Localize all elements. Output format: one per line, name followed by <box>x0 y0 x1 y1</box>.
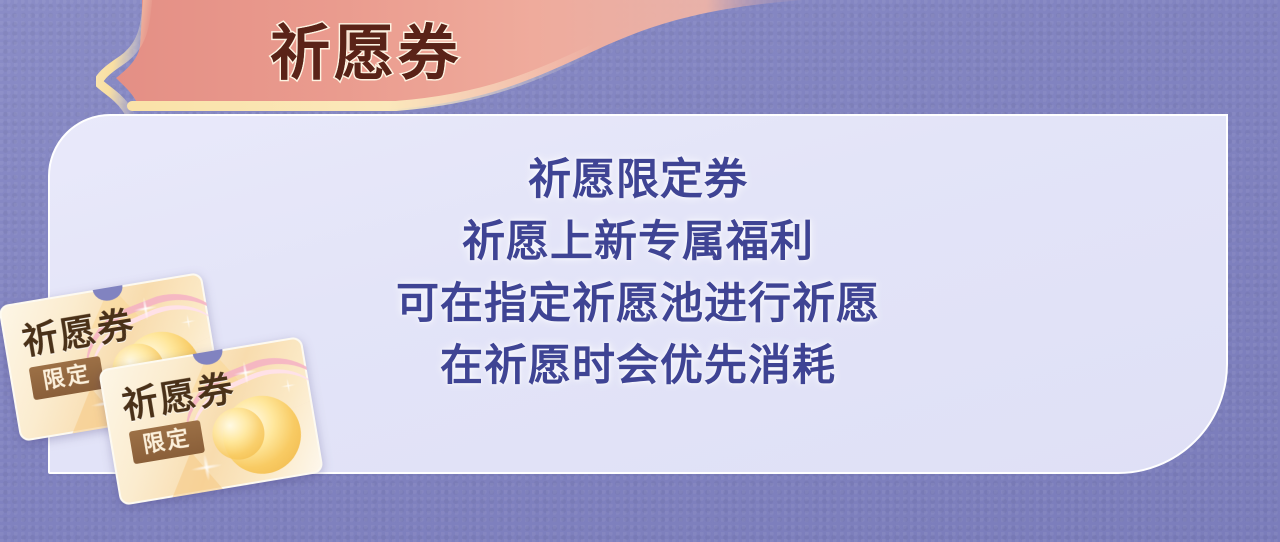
wish-coupon-info-card: 祈愿限定券 祈愿上新专属福利 可在指定祈愿池进行祈愿 在祈愿时会优先消耗 <box>0 0 1280 542</box>
banner-left-ribbon-icon <box>98 0 148 114</box>
sparkle-icon <box>176 309 201 334</box>
banner-fill <box>116 0 836 109</box>
description-line-2: 祈愿上新专属福利 <box>50 212 1226 274</box>
sparkle-icon <box>276 373 301 398</box>
description-line-1: 祈愿限定券 <box>50 150 1226 212</box>
banner-title-outline: 祈愿券 <box>270 18 462 90</box>
banner-bottom-stripe <box>132 48 596 106</box>
title-banner: 祈愿券 祈愿券 <box>96 0 836 114</box>
description-line-3: 可在指定祈愿池进行祈愿 <box>50 274 1226 336</box>
banner-title: 祈愿券 <box>270 18 462 90</box>
